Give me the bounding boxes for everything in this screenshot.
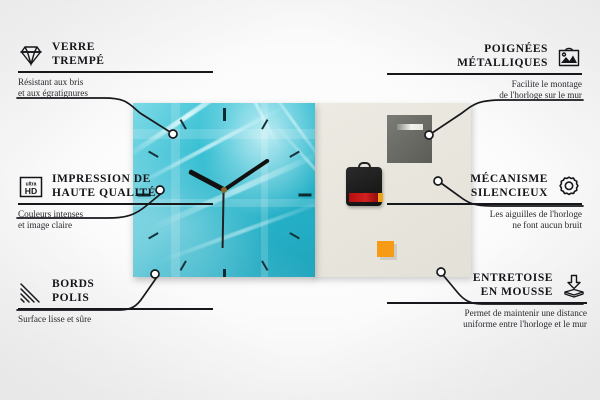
feature-subtitle: Les aiguilles de l'horloge ne font aucun… <box>387 209 582 232</box>
glass-reflection <box>133 129 315 139</box>
feature-title-line2: EN MOUSSE <box>473 286 553 300</box>
feature-heading: ENTRETOISE EN MOUSSE <box>387 272 587 299</box>
feature-entretoise-en-mousse[interactable]: ENTRETOISE EN MOUSSE Permet de maintenir… <box>387 272 587 330</box>
feature-title-line2: SILENCIEUX <box>470 187 548 201</box>
hour-marker <box>223 269 226 277</box>
feature-title-line2: TREMPÉ <box>52 55 105 69</box>
feature-heading: POIGNÉES MÉTALLIQUES <box>387 43 582 70</box>
battery-terminal <box>378 193 383 202</box>
feature-subtitle: Couleurs intenses et image claire <box>18 209 213 232</box>
feature-title-line2: POLIS <box>52 292 94 306</box>
feature-bords-polis[interactable]: BORDS POLIS Surface lisse et sûre <box>18 278 213 325</box>
svg-text:HD: HD <box>25 185 37 195</box>
feature-rule <box>18 71 213 73</box>
feature-heading: VERRE TREMPÉ <box>18 41 213 68</box>
feature-mecanisme-silencieux[interactable]: MÉCANISME SILENCIEUX Les aiguilles de l'… <box>387 173 582 231</box>
feature-rule <box>18 308 213 310</box>
battery <box>349 193 379 202</box>
feature-title: ENTRETOISE <box>473 272 553 286</box>
polished-edges-icon <box>18 279 44 305</box>
feature-title-line2: HAUTE QUALITÉ <box>52 187 156 201</box>
feature-title: POIGNÉES <box>457 43 548 57</box>
feature-verre-trempe[interactable]: VERRE TREMPÉ Résistant aux bris et aux é… <box>18 41 213 99</box>
ultra-hd-icon: ultra HD <box>18 174 44 200</box>
movement-shaft <box>358 162 371 169</box>
feature-subtitle: Résistant aux bris et aux égratignures <box>18 77 213 100</box>
hand-center-cap <box>221 187 227 193</box>
feature-title-line2: MÉTALLIQUES <box>457 57 548 71</box>
feature-heading: MÉCANISME SILENCIEUX <box>387 173 582 200</box>
feature-subtitle: Surface lisse et sûre <box>18 314 213 325</box>
hour-marker <box>289 232 300 239</box>
hour-marker <box>180 260 187 271</box>
framed-picture-hook-icon <box>556 44 582 70</box>
hour-marker <box>148 151 159 158</box>
hanger-slot <box>397 124 423 130</box>
feature-title: BORDS <box>52 278 94 292</box>
diamond-icon <box>18 42 44 68</box>
feature-rule <box>18 203 213 205</box>
hour-marker <box>299 194 312 197</box>
infographic-canvas: VERRE TREMPÉ Résistant aux bris et aux é… <box>0 0 600 400</box>
feature-subtitle: Permet de maintenir une distance uniform… <box>387 308 587 331</box>
feature-rule <box>387 73 582 75</box>
hour-marker <box>223 108 226 121</box>
hour-marker <box>148 232 159 239</box>
feature-heading: ultra HD IMPRESSION DE HAUTE QUALITÉ <box>18 173 213 200</box>
hour-marker <box>289 151 300 158</box>
feature-title: VERRE <box>52 41 105 55</box>
feature-rule <box>387 203 582 205</box>
feature-title: IMPRESSION DE <box>52 173 156 187</box>
feature-poignees-metalliques[interactable]: POIGNÉES MÉTALLIQUES Facilite le montage… <box>387 43 582 101</box>
foam-spacer <box>377 241 394 257</box>
feature-subtitle: Facilite le montage de l'horloge sur le … <box>387 79 582 102</box>
foam-spacer-arrow-icon <box>561 273 587 299</box>
metal-hanger-plate <box>387 115 432 163</box>
feature-impression-haute-qualite[interactable]: ultra HD IMPRESSION DE HAUTE QUALITÉ Cou… <box>18 173 213 231</box>
quartz-movement <box>346 167 382 206</box>
feature-rule <box>387 302 587 304</box>
feature-title: MÉCANISME <box>470 173 548 187</box>
gear-icon <box>556 174 582 200</box>
feature-heading: BORDS POLIS <box>18 278 213 305</box>
